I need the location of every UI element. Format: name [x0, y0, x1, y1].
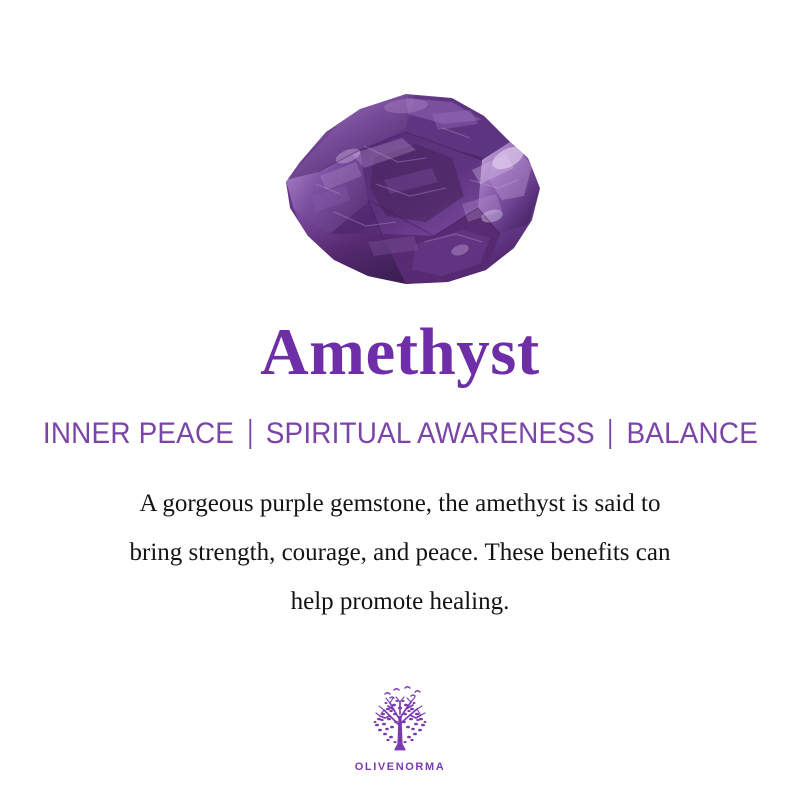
- page-title: Amethyst: [260, 319, 539, 386]
- amethyst-crystal-illustration: [256, 84, 548, 292]
- olive-tree-icon: [361, 684, 439, 758]
- keyword-separator-2: [609, 419, 611, 449]
- amethyst-crystal-image: [256, 84, 548, 292]
- amethyst-info-card: Amethyst INNER PEACE SPIRITUAL AWARENESS…: [0, 0, 800, 800]
- keyword-row: INNER PEACE SPIRITUAL AWARENESS BALANCE: [41, 419, 760, 449]
- birds: [385, 687, 420, 698]
- brand-wordmark: OLIVENORMA: [355, 761, 446, 773]
- tree-canopy: [374, 687, 427, 751]
- keyword-inner-peace: INNER PEACE: [41, 419, 236, 449]
- keyword-balance: BALANCE: [624, 419, 759, 449]
- keyword-spiritual-awareness: SPIRITUAL AWARENESS: [263, 419, 596, 449]
- hero-image-area: [0, 0, 800, 315]
- keyword-separator-1: [249, 419, 251, 449]
- description-line-2: bring strength, courage, and peace. Thes…: [40, 528, 760, 577]
- description-text: A gorgeous purple gemstone, the amethyst…: [40, 479, 760, 626]
- description-line-1: A gorgeous purple gemstone, the amethyst…: [40, 479, 760, 528]
- description-line-3: help promote healing.: [40, 577, 760, 626]
- brand-logo: OLIVENORMA: [0, 684, 800, 773]
